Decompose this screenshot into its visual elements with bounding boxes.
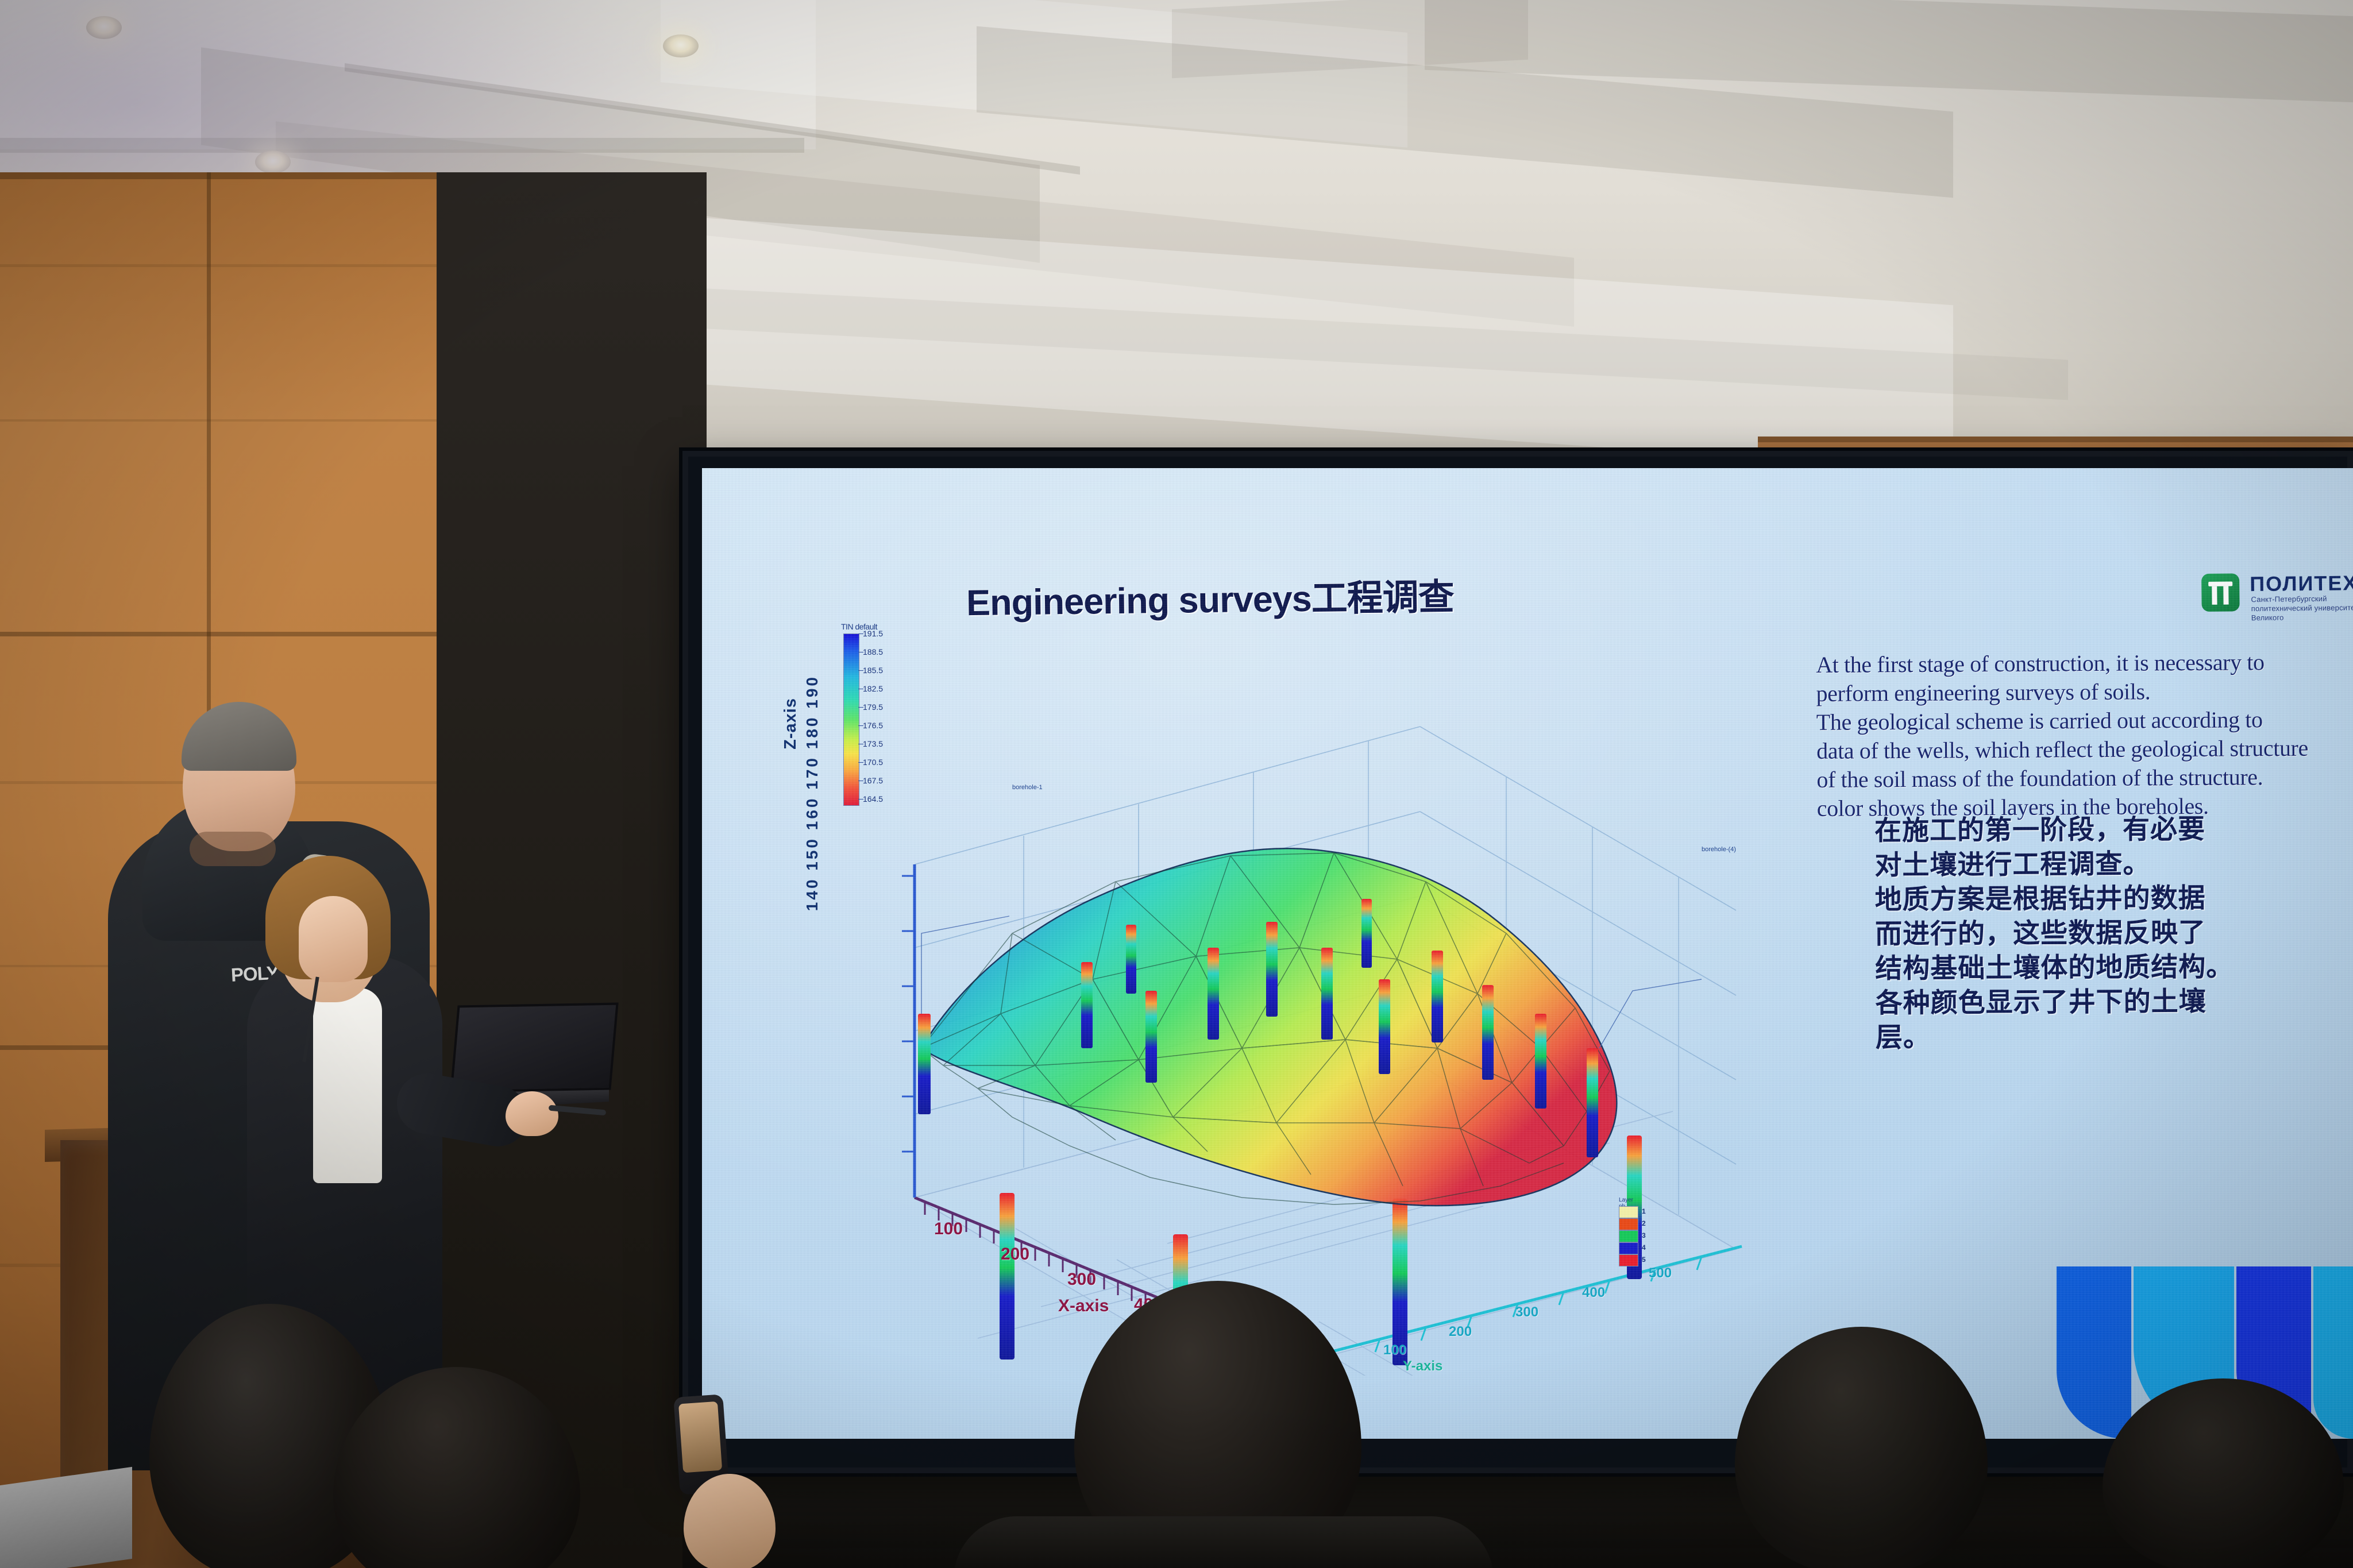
cn-line: 在施工的第一阶段，有必要 [1874, 812, 2353, 849]
y-tick: 300 [1515, 1304, 1538, 1320]
cn-line: 而进行的，这些数据反映了 [1875, 915, 2353, 952]
logo-subtitle: Санкт-Петербургский политехнический унив… [2251, 594, 2353, 623]
y-tick: 400 [1582, 1285, 1605, 1301]
cn-line: 结构基础土壤体的地质结构。 [1875, 949, 2353, 987]
slide-body-chinese: 在施工的第一阶段，有必要 对土壤进行工程调查。 地质方案是根据钻井的数据 而进行… [1874, 812, 2353, 1056]
cn-line: 层。 [1876, 1018, 2353, 1056]
x-axis-label: X-axis [1058, 1296, 1109, 1316]
tin-surface [921, 848, 1617, 1206]
plot-canvas [771, 612, 1822, 1376]
y-axis-label: Y-axis [1403, 1358, 1442, 1374]
borehole-label: borehole-1 [1012, 784, 1043, 791]
legend-swatch [1619, 1206, 1638, 1218]
legend-swatch [1619, 1218, 1638, 1230]
logo-name: ПОЛИТЕХ [2250, 571, 2353, 596]
slide-body-english: At the first stage of construction, it i… [1816, 647, 2353, 823]
y-tick: 100 [1383, 1342, 1406, 1358]
legend-value: 2 [1642, 1219, 1646, 1227]
y-tick: 200 [1449, 1324, 1472, 1340]
laptop-screen [450, 1003, 618, 1093]
y-tick: 500 [1649, 1265, 1672, 1281]
en-line: data of the wells, which reflect the geo… [1816, 733, 2353, 766]
legend-swatch [1619, 1254, 1638, 1266]
en-line: The geological scheme is carried out acc… [1816, 705, 2353, 737]
cn-line: 对土壤进行工程调查。 [1874, 846, 2353, 883]
en-line: perform engineering surveys of soils. [1816, 676, 2353, 708]
x-tick: 100 [934, 1219, 963, 1239]
legend-value: 1 [1642, 1207, 1646, 1215]
legend-swatch [1619, 1242, 1638, 1254]
cn-line: 各种颜色显示了井下的土壤 [1875, 984, 2353, 1021]
wall-dark-left [437, 172, 707, 1568]
projection-screen[interactable]: Engineering surveys工程调查 At the first sta… [702, 468, 2353, 1439]
x-tick: 300 [1067, 1270, 1096, 1289]
polytech-pi-icon [2201, 573, 2240, 612]
cn-line: 地质方案是根据钻井的数据 [1875, 880, 2353, 918]
audience-laptop [0, 1467, 132, 1568]
borehole-label: borehole-(4) [1702, 846, 1736, 853]
legend-value: 4 [1642, 1243, 1646, 1252]
en-line: At the first stage of construction, it i… [1816, 647, 2353, 679]
legend-value: 5 [1642, 1256, 1646, 1264]
conference-photo: Engineering surveys工程调查 At the first sta… [0, 0, 2353, 1568]
x-tick: 200 [1001, 1245, 1029, 1264]
legend-value: 3 [1642, 1231, 1646, 1239]
3d-geological-plot[interactable]: TIN default 191.5 188.5 185.5 182.5 179.… [771, 612, 1822, 1376]
legend-swatch [1619, 1230, 1638, 1242]
audience-shoulders [954, 1516, 1494, 1568]
en-line: of the soil mass of the foundation of th… [1816, 762, 2353, 794]
